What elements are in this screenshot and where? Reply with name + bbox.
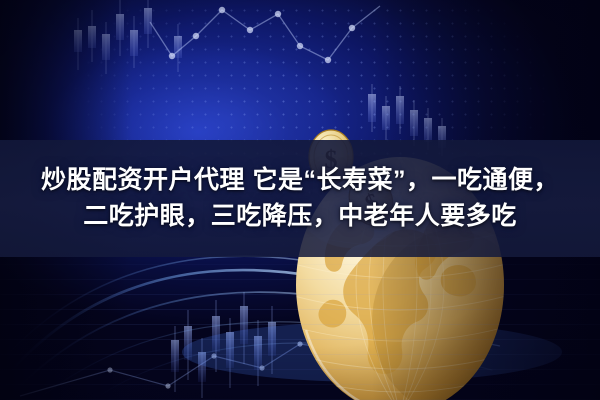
stock-finance-banner: $ $ 炒股配资开户代理 它是“长寿菜”，一吃通便， 二吃护眼，三吃降压，中老年… <box>0 0 600 400</box>
headline-line-2: 二吃护眼，三吃降压，中老年人要多吃 <box>83 202 517 232</box>
headline-overlay-band: 炒股配资开户代理 它是“长寿菜”，一吃通便， 二吃护眼，三吃降压，中老年人要多吃 <box>0 140 600 257</box>
headline-line-1: 炒股配资开户代理 它是“长寿菜”，一吃通便， <box>41 166 559 196</box>
